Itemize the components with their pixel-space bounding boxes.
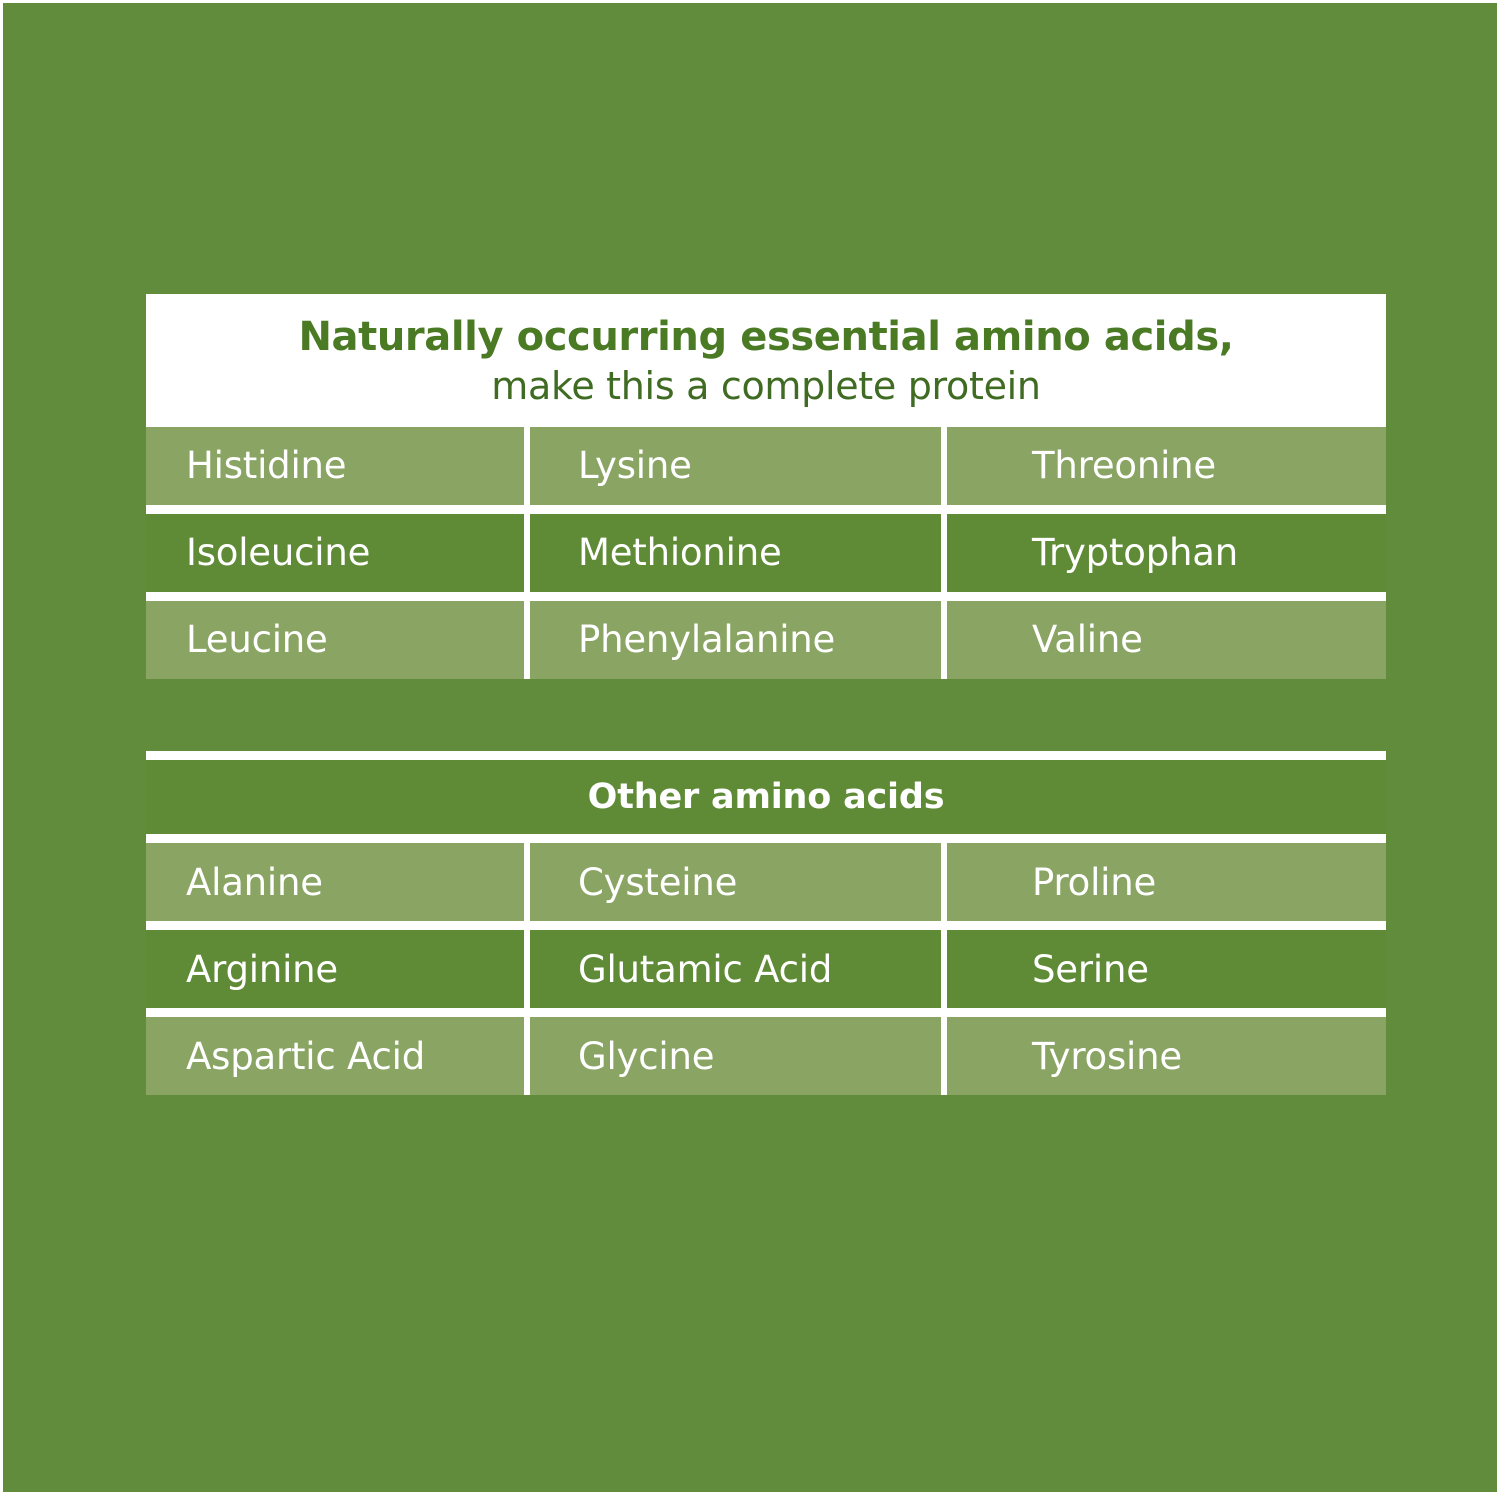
row-separator <box>146 505 1386 514</box>
essential-table-header: Naturally occurring essential amino acid… <box>146 294 1386 427</box>
page-subtitle: make this a complete protein <box>146 359 1386 411</box>
page-title: Naturally occurring essential amino acid… <box>146 316 1386 359</box>
other-amino-acids-table: Other amino acids Alanine Cysteine Proli… <box>146 751 1386 1095</box>
table-cell: Cysteine <box>530 843 947 921</box>
page-root: Naturally occurring essential amino acid… <box>0 0 1500 1495</box>
table-row: Isoleucine Methionine Tryptophan <box>146 514 1386 592</box>
table-cell: Glycine <box>530 1017 947 1095</box>
row-separator <box>146 592 1386 601</box>
essential-amino-acids-table: Naturally occurring essential amino acid… <box>146 294 1386 679</box>
table-cell: Methionine <box>530 514 947 592</box>
table-row: Alanine Cysteine Proline <box>146 843 1386 921</box>
table-cell: Phenylalanine <box>530 601 947 679</box>
table-cell: Aspartic Acid <box>146 1017 530 1095</box>
table-cell: Proline <box>947 843 1386 921</box>
table-cell: Leucine <box>146 601 530 679</box>
table-top-rule <box>146 751 1386 760</box>
table-cell: Lysine <box>530 427 947 505</box>
other-table-title: Other amino acids <box>588 777 945 817</box>
table-row: Arginine Glutamic Acid Serine <box>146 930 1386 1008</box>
table-row: Leucine Phenylalanine Valine <box>146 601 1386 679</box>
table-cell: Alanine <box>146 843 530 921</box>
row-separator <box>146 921 1386 930</box>
table-cell: Threonine <box>947 427 1386 505</box>
table-cell: Isoleucine <box>146 514 530 592</box>
table-cell: Valine <box>947 601 1386 679</box>
table-cell: Tryptophan <box>947 514 1386 592</box>
table-row: Histidine Lysine Threonine <box>146 427 1386 505</box>
table-cell: Glutamic Acid <box>530 930 947 1008</box>
table-cell: Histidine <box>146 427 530 505</box>
table-cell: Tyrosine <box>947 1017 1386 1095</box>
row-separator <box>146 834 1386 843</box>
table-cell: Serine <box>947 930 1386 1008</box>
table-cell: Arginine <box>146 930 530 1008</box>
other-table-header: Other amino acids <box>146 760 1386 834</box>
row-separator <box>146 1008 1386 1017</box>
table-row: Aspartic Acid Glycine Tyrosine <box>146 1017 1386 1095</box>
